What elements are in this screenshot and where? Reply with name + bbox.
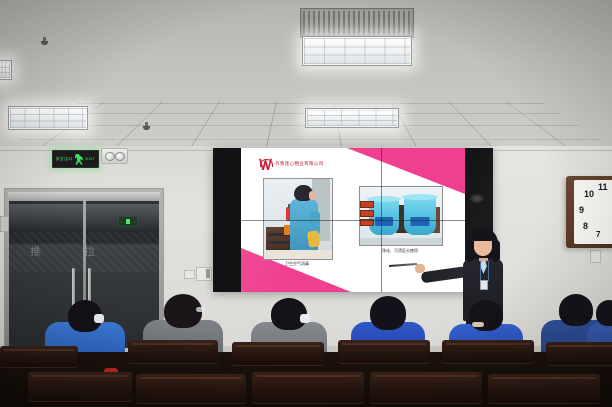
emergency-light bbox=[101, 148, 128, 164]
presenter-fringe bbox=[471, 232, 495, 241]
collar-light bbox=[472, 322, 484, 327]
chair-front-2[interactable] bbox=[136, 374, 246, 404]
ceiling-light-panel-lower bbox=[305, 108, 399, 128]
slide-logo: 齐鲁连心物业有限公司 bbox=[259, 158, 323, 170]
presenter-lanyard bbox=[480, 261, 489, 281]
chair-back-1[interactable] bbox=[0, 346, 78, 368]
chair-back-2[interactable] bbox=[128, 340, 218, 364]
photo-caption-right: 净化、污渍区分使用 bbox=[359, 248, 441, 254]
presenter-hair-left bbox=[466, 240, 474, 262]
ceiling-light-panel-center bbox=[302, 36, 412, 66]
ceiling-light-panel-left-lower bbox=[8, 106, 88, 130]
clock-number-11: 11 bbox=[598, 182, 608, 192]
chair-front-3[interactable] bbox=[252, 372, 364, 404]
presenter-hair-right bbox=[492, 240, 500, 262]
display-seam-horizontal bbox=[241, 220, 465, 221]
sprinkler-head-left bbox=[41, 37, 48, 46]
exit-sign-label-en: EXIT bbox=[86, 157, 96, 161]
wall-panel-left bbox=[0, 216, 9, 232]
exit-sign-label-cn: 安全出口 bbox=[56, 157, 73, 161]
running-man-icon bbox=[75, 154, 84, 165]
chair-front-5[interactable] bbox=[488, 374, 600, 404]
door-header bbox=[8, 192, 160, 201]
eyeglasses bbox=[196, 307, 205, 312]
presenter-badge bbox=[480, 280, 488, 290]
chair-back-5[interactable] bbox=[442, 340, 534, 364]
chair-back-6[interactable] bbox=[546, 342, 612, 366]
chair-front-4[interactable] bbox=[370, 372, 482, 404]
clock-face: 11 10 9 8 7 bbox=[574, 180, 612, 244]
hvac-air-diffuser bbox=[300, 8, 414, 38]
photo-cleaning-buckets bbox=[359, 186, 443, 246]
face-mask bbox=[300, 314, 310, 323]
face-mask bbox=[94, 314, 104, 323]
door-indicator-light bbox=[118, 216, 138, 227]
display-bezel-left bbox=[213, 148, 241, 292]
company-name: 齐鲁连心物业有限公司 bbox=[275, 161, 323, 167]
clock-number-7: 7 bbox=[596, 230, 600, 239]
clock-number-8: 8 bbox=[583, 221, 588, 231]
clock-number-9: 9 bbox=[579, 205, 584, 215]
wall-outlet[interactable] bbox=[590, 250, 601, 263]
clock-number-10: 10 bbox=[584, 189, 594, 199]
head bbox=[596, 300, 612, 326]
ceiling bbox=[0, 0, 612, 152]
exit-sign: 安全出口 EXIT bbox=[52, 150, 99, 168]
head bbox=[370, 296, 406, 330]
light-switch-panel[interactable] bbox=[196, 267, 212, 281]
chair-back-3[interactable] bbox=[232, 342, 324, 366]
photo-hygiene-cart bbox=[263, 178, 333, 260]
ceiling-light-panel-left bbox=[0, 60, 12, 80]
chair-front-1[interactable] bbox=[28, 372, 132, 402]
wall-clock: 11 10 9 8 7 bbox=[566, 176, 612, 248]
conference-room-photo: 安全出口 EXIT 推 拉 11 10 9 8 7 bbox=[0, 0, 612, 407]
photo-caption-left: 卫生空气消毒 bbox=[263, 261, 331, 267]
w-logo-icon bbox=[259, 158, 272, 170]
chair-back-4[interactable] bbox=[338, 340, 430, 364]
sprinkler-head-right bbox=[143, 122, 150, 131]
light-switch-small[interactable] bbox=[184, 270, 195, 279]
